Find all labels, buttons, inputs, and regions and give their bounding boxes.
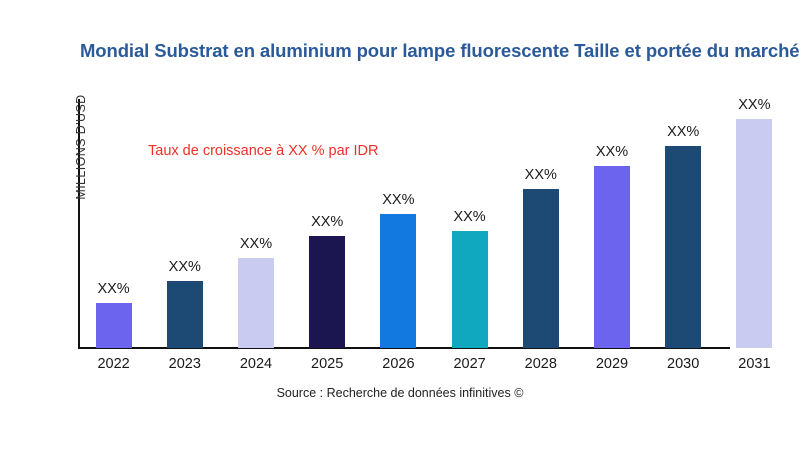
bar-group: XX%2029	[576, 99, 647, 348]
bar[interactable]	[96, 303, 132, 348]
source-caption: Source : Recherche de données infinitive…	[0, 386, 800, 400]
bar-value-label: XX%	[311, 214, 343, 230]
bar[interactable]	[380, 214, 416, 348]
x-axis-tick-2028: 2028	[525, 356, 557, 372]
bar-group: XX%2025	[292, 99, 363, 348]
x-axis-tick-2029: 2029	[596, 356, 628, 372]
bar-group: XX%2027	[434, 99, 505, 348]
x-axis-tick-2030: 2030	[667, 356, 699, 372]
bar[interactable]	[452, 231, 488, 348]
bar[interactable]	[736, 119, 772, 348]
bar-value-label: XX%	[453, 209, 485, 225]
bar-value-label: XX%	[240, 236, 272, 252]
x-axis-tick-2026: 2026	[382, 356, 414, 372]
bar-value-label: XX%	[667, 124, 699, 140]
x-axis-tick-2023: 2023	[169, 356, 201, 372]
plot-area: XX%2022XX%2023XX%2024XX%2025XX%2026XX%20…	[78, 99, 790, 348]
bar-value-label: XX%	[596, 144, 628, 160]
page-title: Mondial Substrat en aluminium pour lampe…	[80, 40, 800, 62]
bar[interactable]	[594, 166, 630, 348]
bar-group: XX%2031	[719, 99, 790, 348]
bar-group: XX%2030	[648, 99, 719, 348]
bar[interactable]	[523, 189, 559, 348]
bar-value-label: XX%	[738, 97, 770, 113]
bar[interactable]	[665, 146, 701, 348]
bar-value-label: XX%	[97, 281, 129, 297]
bar-value-label: XX%	[382, 192, 414, 208]
bar-group: XX%2028	[505, 99, 576, 348]
bar-chart: Mondial Substrat en aluminium pour lampe…	[0, 0, 800, 450]
x-axis-tick-2031: 2031	[738, 356, 770, 372]
bar-group: XX%2023	[149, 99, 220, 348]
x-axis-tick-2022: 2022	[97, 356, 129, 372]
bar-group: XX%2022	[78, 99, 149, 348]
bar-group: XX%2026	[363, 99, 434, 348]
bar[interactable]	[309, 236, 345, 348]
bar[interactable]	[167, 281, 203, 348]
x-axis-tick-2025: 2025	[311, 356, 343, 372]
bar-value-label: XX%	[169, 259, 201, 275]
x-axis-tick-2027: 2027	[453, 356, 485, 372]
bar-value-label: XX%	[525, 167, 557, 183]
x-axis-tick-2024: 2024	[240, 356, 272, 372]
bar-group: XX%2024	[220, 99, 291, 348]
bar[interactable]	[238, 258, 274, 348]
